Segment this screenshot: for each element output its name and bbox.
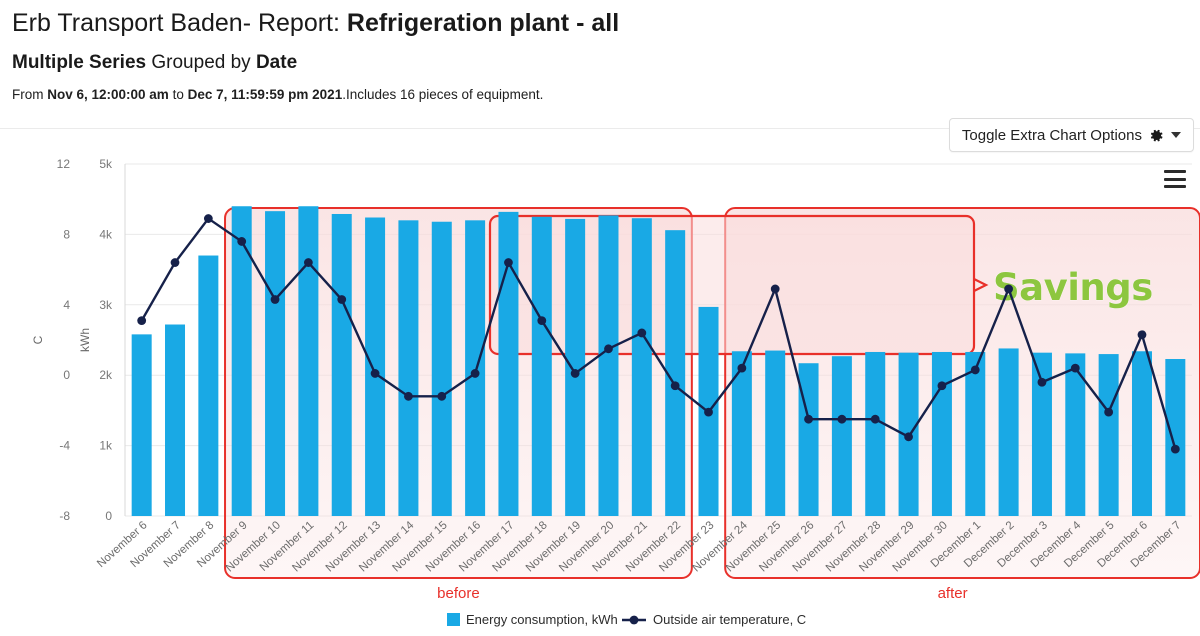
line-point[interactable] bbox=[971, 366, 980, 375]
line-point[interactable] bbox=[337, 295, 346, 304]
line-point[interactable] bbox=[871, 415, 880, 424]
bar[interactable] bbox=[799, 363, 819, 516]
line-point[interactable] bbox=[1138, 330, 1147, 339]
line-point[interactable] bbox=[671, 381, 680, 390]
bar[interactable] bbox=[398, 220, 418, 516]
y-axis-temp-title: C bbox=[31, 335, 45, 344]
after-label: after bbox=[938, 585, 968, 602]
before-label: before bbox=[437, 585, 480, 602]
line-point[interactable] bbox=[1104, 408, 1113, 417]
bar[interactable] bbox=[865, 352, 885, 516]
y-axis-temp-tick-label: 0 bbox=[63, 368, 70, 382]
bar[interactable] bbox=[598, 215, 618, 516]
report-page: Erb Transport Baden- Report: Refrigerati… bbox=[0, 0, 1200, 636]
line-point[interactable] bbox=[471, 369, 480, 378]
line-point[interactable] bbox=[404, 392, 413, 401]
bar[interactable] bbox=[965, 352, 985, 516]
line-point[interactable] bbox=[1038, 378, 1047, 387]
line-point[interactable] bbox=[904, 432, 913, 441]
bar[interactable] bbox=[532, 217, 552, 516]
y-axis-temp-tick-label: 12 bbox=[57, 157, 71, 171]
bar[interactable] bbox=[632, 218, 652, 516]
legend-item-energy-consumption[interactable]: Energy consumption, kWh bbox=[447, 612, 618, 627]
line-point[interactable] bbox=[171, 258, 180, 267]
line-point[interactable] bbox=[637, 329, 646, 338]
chart-legend: Energy consumption, kWhOutside air tempe… bbox=[447, 612, 806, 627]
line-point[interactable] bbox=[704, 408, 713, 417]
y-axis-kwh-tick-label: 3k bbox=[99, 298, 113, 312]
bar[interactable] bbox=[832, 356, 852, 516]
bar[interactable] bbox=[932, 352, 952, 516]
line-point[interactable] bbox=[204, 214, 213, 223]
y-axis-kwh-tick-label: 1k bbox=[99, 439, 113, 453]
bar[interactable] bbox=[1099, 354, 1119, 516]
y-axis-temp-tick-label: -4 bbox=[59, 439, 70, 453]
line-point[interactable] bbox=[804, 415, 813, 424]
line-point[interactable] bbox=[1071, 364, 1080, 373]
line-point[interactable] bbox=[571, 369, 580, 378]
legend-item-outside-air-temperature[interactable]: Outside air temperature, C bbox=[622, 612, 806, 627]
y-axis-kwh-tick-label: 0 bbox=[105, 509, 112, 523]
bar[interactable] bbox=[498, 212, 518, 516]
bar[interactable] bbox=[365, 218, 385, 516]
bar[interactable] bbox=[132, 334, 152, 516]
legend-label: Energy consumption, kWh bbox=[466, 612, 618, 627]
y-axis-kwh-tick-label: 5k bbox=[99, 157, 113, 171]
bar[interactable] bbox=[1032, 353, 1052, 516]
line-point[interactable] bbox=[604, 344, 613, 353]
bar[interactable] bbox=[298, 206, 318, 516]
bar[interactable] bbox=[765, 351, 785, 516]
line-point[interactable] bbox=[237, 237, 246, 246]
y-axis-temp-tick-label: 8 bbox=[63, 227, 70, 241]
bar[interactable] bbox=[1132, 351, 1152, 516]
bar[interactable] bbox=[198, 256, 218, 516]
line-point[interactable] bbox=[437, 392, 446, 401]
bar[interactable] bbox=[465, 220, 485, 516]
bar[interactable] bbox=[332, 214, 352, 516]
y-axis-kwh-tick-label: 4k bbox=[99, 227, 113, 241]
y-axis-temp-tick-label: -8 bbox=[59, 509, 70, 523]
y-axis-temp-tick-label: 4 bbox=[63, 298, 70, 312]
y-axis-kwh-title: kWh bbox=[78, 328, 92, 352]
line-point[interactable] bbox=[304, 258, 313, 267]
bar[interactable] bbox=[265, 211, 285, 516]
y-axis-kwh-tick-label: 2k bbox=[99, 368, 113, 382]
line-point[interactable] bbox=[737, 364, 746, 373]
line-point[interactable] bbox=[371, 369, 380, 378]
legend-label: Outside air temperature, C bbox=[653, 612, 806, 627]
line-point[interactable] bbox=[137, 316, 146, 325]
line-point[interactable] bbox=[537, 316, 546, 325]
bar[interactable] bbox=[999, 348, 1019, 516]
line-point[interactable] bbox=[1171, 445, 1180, 454]
bar[interactable] bbox=[432, 222, 452, 516]
bar[interactable] bbox=[1165, 359, 1185, 516]
line-point[interactable] bbox=[1004, 285, 1013, 294]
line-point[interactable] bbox=[837, 415, 846, 424]
line-point[interactable] bbox=[771, 285, 780, 294]
line-point[interactable] bbox=[504, 258, 513, 267]
line-point[interactable] bbox=[271, 295, 280, 304]
bar[interactable] bbox=[165, 325, 185, 516]
savings-label: Savings bbox=[993, 266, 1153, 309]
line-point[interactable] bbox=[938, 381, 947, 390]
chart-canvas: 01k2k3k4k5k-8-404812CkWhbeforeafterSavin… bbox=[0, 0, 1200, 636]
